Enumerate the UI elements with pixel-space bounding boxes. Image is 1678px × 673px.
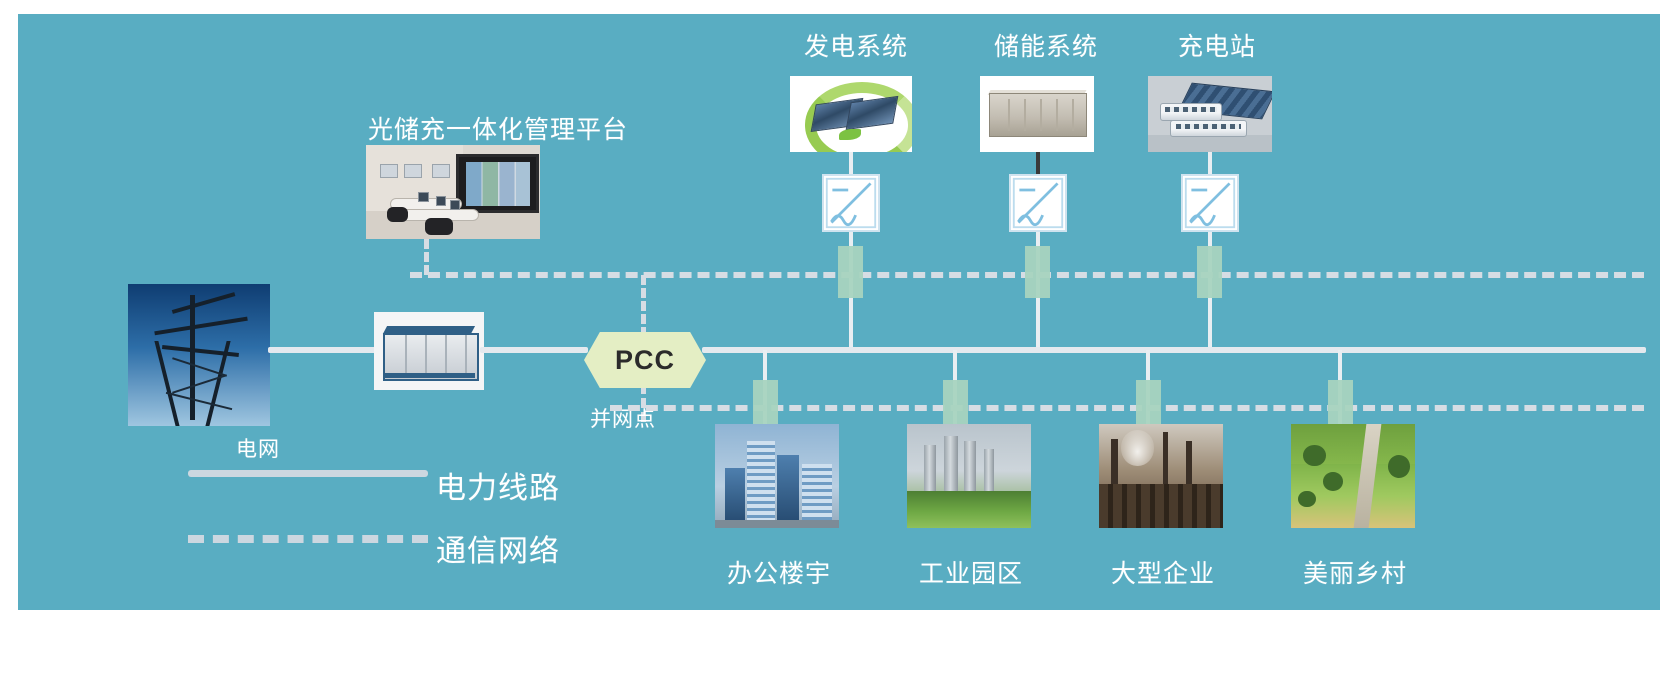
- bottom-node-label-rural: 美丽乡村: [1303, 562, 1407, 587]
- pcc-caption: 并网点: [590, 409, 656, 430]
- legend-swatch-comm-network: [188, 535, 428, 543]
- legend-label-comm-network: 通信网络: [436, 537, 560, 567]
- comm-line-platform: [424, 239, 429, 275]
- comm-line-pcc-upper: [641, 275, 646, 337]
- comm-node-charging: [1197, 246, 1222, 298]
- transmission-tower-photo: [128, 284, 270, 426]
- inverter-dc-ac-icon-charging: [1181, 174, 1239, 232]
- platform-title: 光储充一体化管理平台: [368, 118, 628, 143]
- top-node-label-charging: 充电站: [1178, 35, 1256, 60]
- grid-label: 电网: [236, 439, 280, 460]
- bottom-node-label-industrial: 工业园区: [919, 562, 1023, 587]
- comm-node-storage: [1025, 246, 1050, 298]
- diagram-canvas: 发电系统 储能系统 充电站: [0, 0, 1678, 673]
- inverter-dc-ac-icon-storage: [1009, 174, 1067, 232]
- top-node-label-storage: 储能系统: [994, 35, 1098, 60]
- pcc-badge: PCC: [584, 332, 706, 388]
- inverter-dc-ac-icon-generation: [822, 174, 880, 232]
- substation-box-icon: [374, 312, 484, 390]
- legend-label-power-line: 电力线路: [436, 474, 560, 504]
- bottom-node-label-enterprise: 大型企业: [1111, 562, 1215, 587]
- top-node-label-generation: 发电系统: [804, 35, 908, 60]
- industrial-park-photo: [907, 424, 1031, 528]
- bottom-node-label-office: 办公楼宇: [727, 562, 831, 587]
- rural-village-photo: [1291, 424, 1415, 528]
- control-room-photo: [366, 145, 540, 239]
- solar-generation-photo: [790, 76, 912, 152]
- large-enterprise-photo: [1099, 424, 1223, 528]
- line-grid-to-substation: [268, 347, 378, 353]
- main-power-bus: [702, 347, 1646, 353]
- line-substation-to-pcc: [480, 347, 588, 353]
- comm-node-generation: [838, 246, 863, 298]
- ev-charging-station-photo: [1148, 76, 1272, 152]
- diagram-panel: 发电系统 储能系统 充电站: [18, 14, 1660, 610]
- legend-swatch-power-line: [188, 470, 428, 477]
- battery-storage-photo: [980, 76, 1094, 152]
- office-building-photo: [715, 424, 839, 528]
